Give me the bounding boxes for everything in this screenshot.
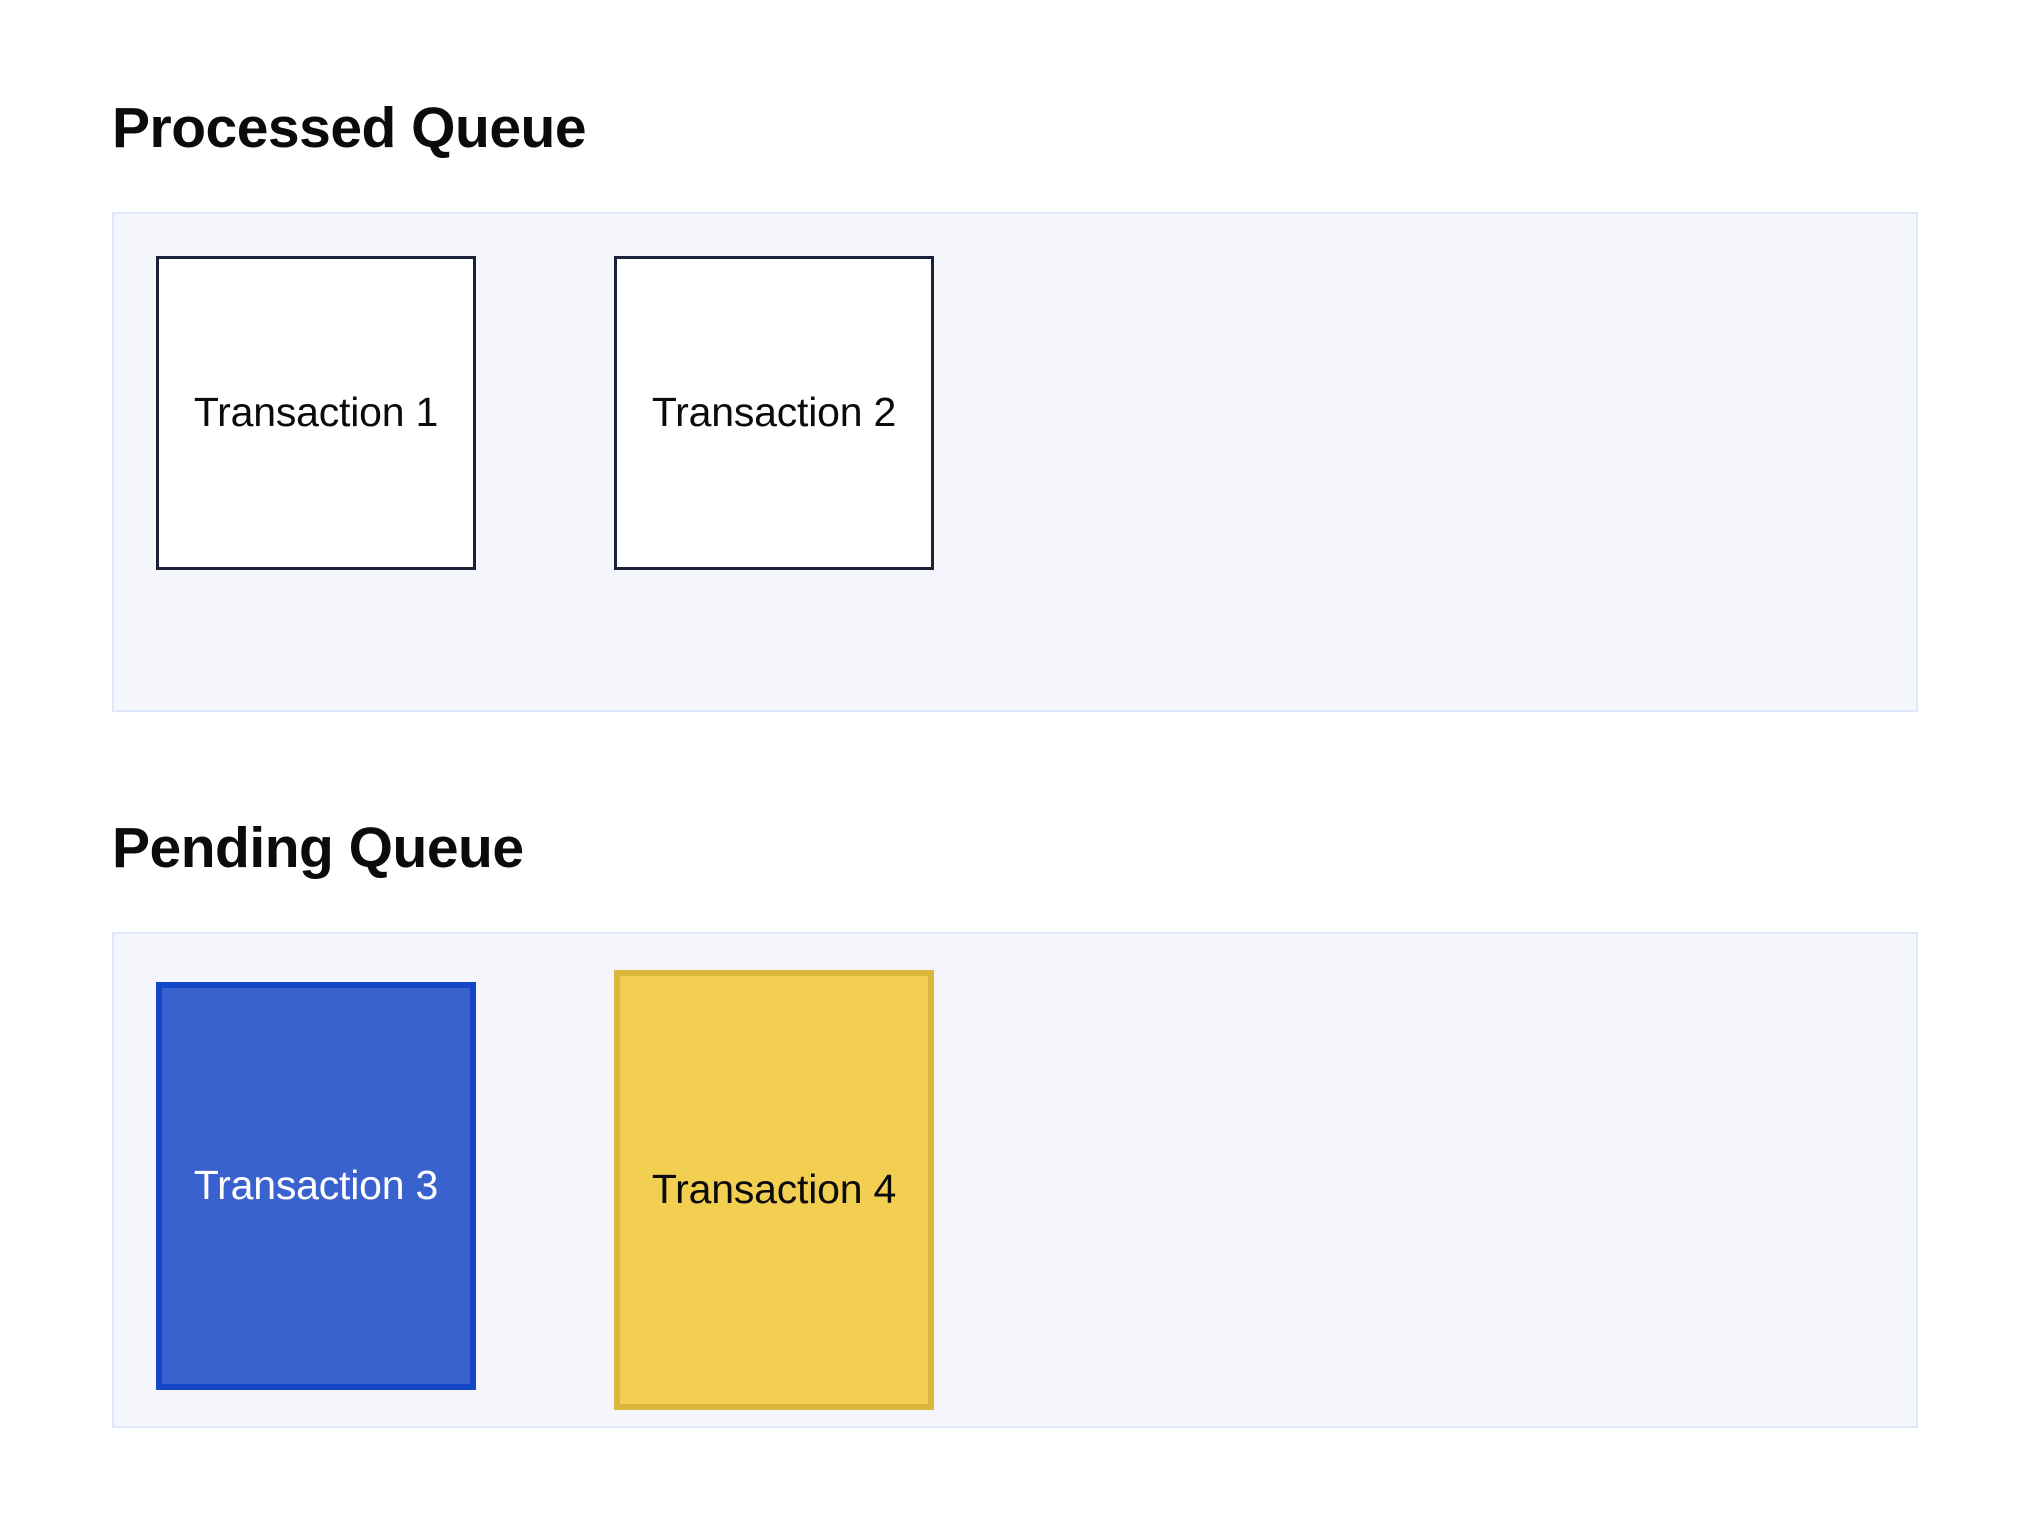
transaction-card-4-label: Transaction 4 — [652, 1167, 896, 1212]
processed-queue-container: Transaction 1 Transaction 2 — [112, 212, 1918, 712]
transaction-card-3[interactable]: Transaction 3 — [156, 982, 476, 1390]
transaction-card-1[interactable]: Transaction 1 — [156, 256, 476, 570]
pending-queue-heading: Pending Queue — [112, 820, 524, 877]
transaction-card-2-label: Transaction 2 — [652, 390, 896, 435]
pending-queue-container: Transaction 3 Transaction 4 — [112, 932, 1918, 1428]
transaction-card-1-label: Transaction 1 — [194, 390, 438, 435]
queue-visualization-page: Processed Queue Transaction 1 Transactio… — [0, 0, 2036, 1532]
transaction-card-4[interactable]: Transaction 4 — [614, 970, 934, 1410]
transaction-card-3-label: Transaction 3 — [194, 1163, 438, 1208]
processed-queue-heading: Processed Queue — [112, 100, 586, 157]
transaction-card-2[interactable]: Transaction 2 — [614, 256, 934, 570]
